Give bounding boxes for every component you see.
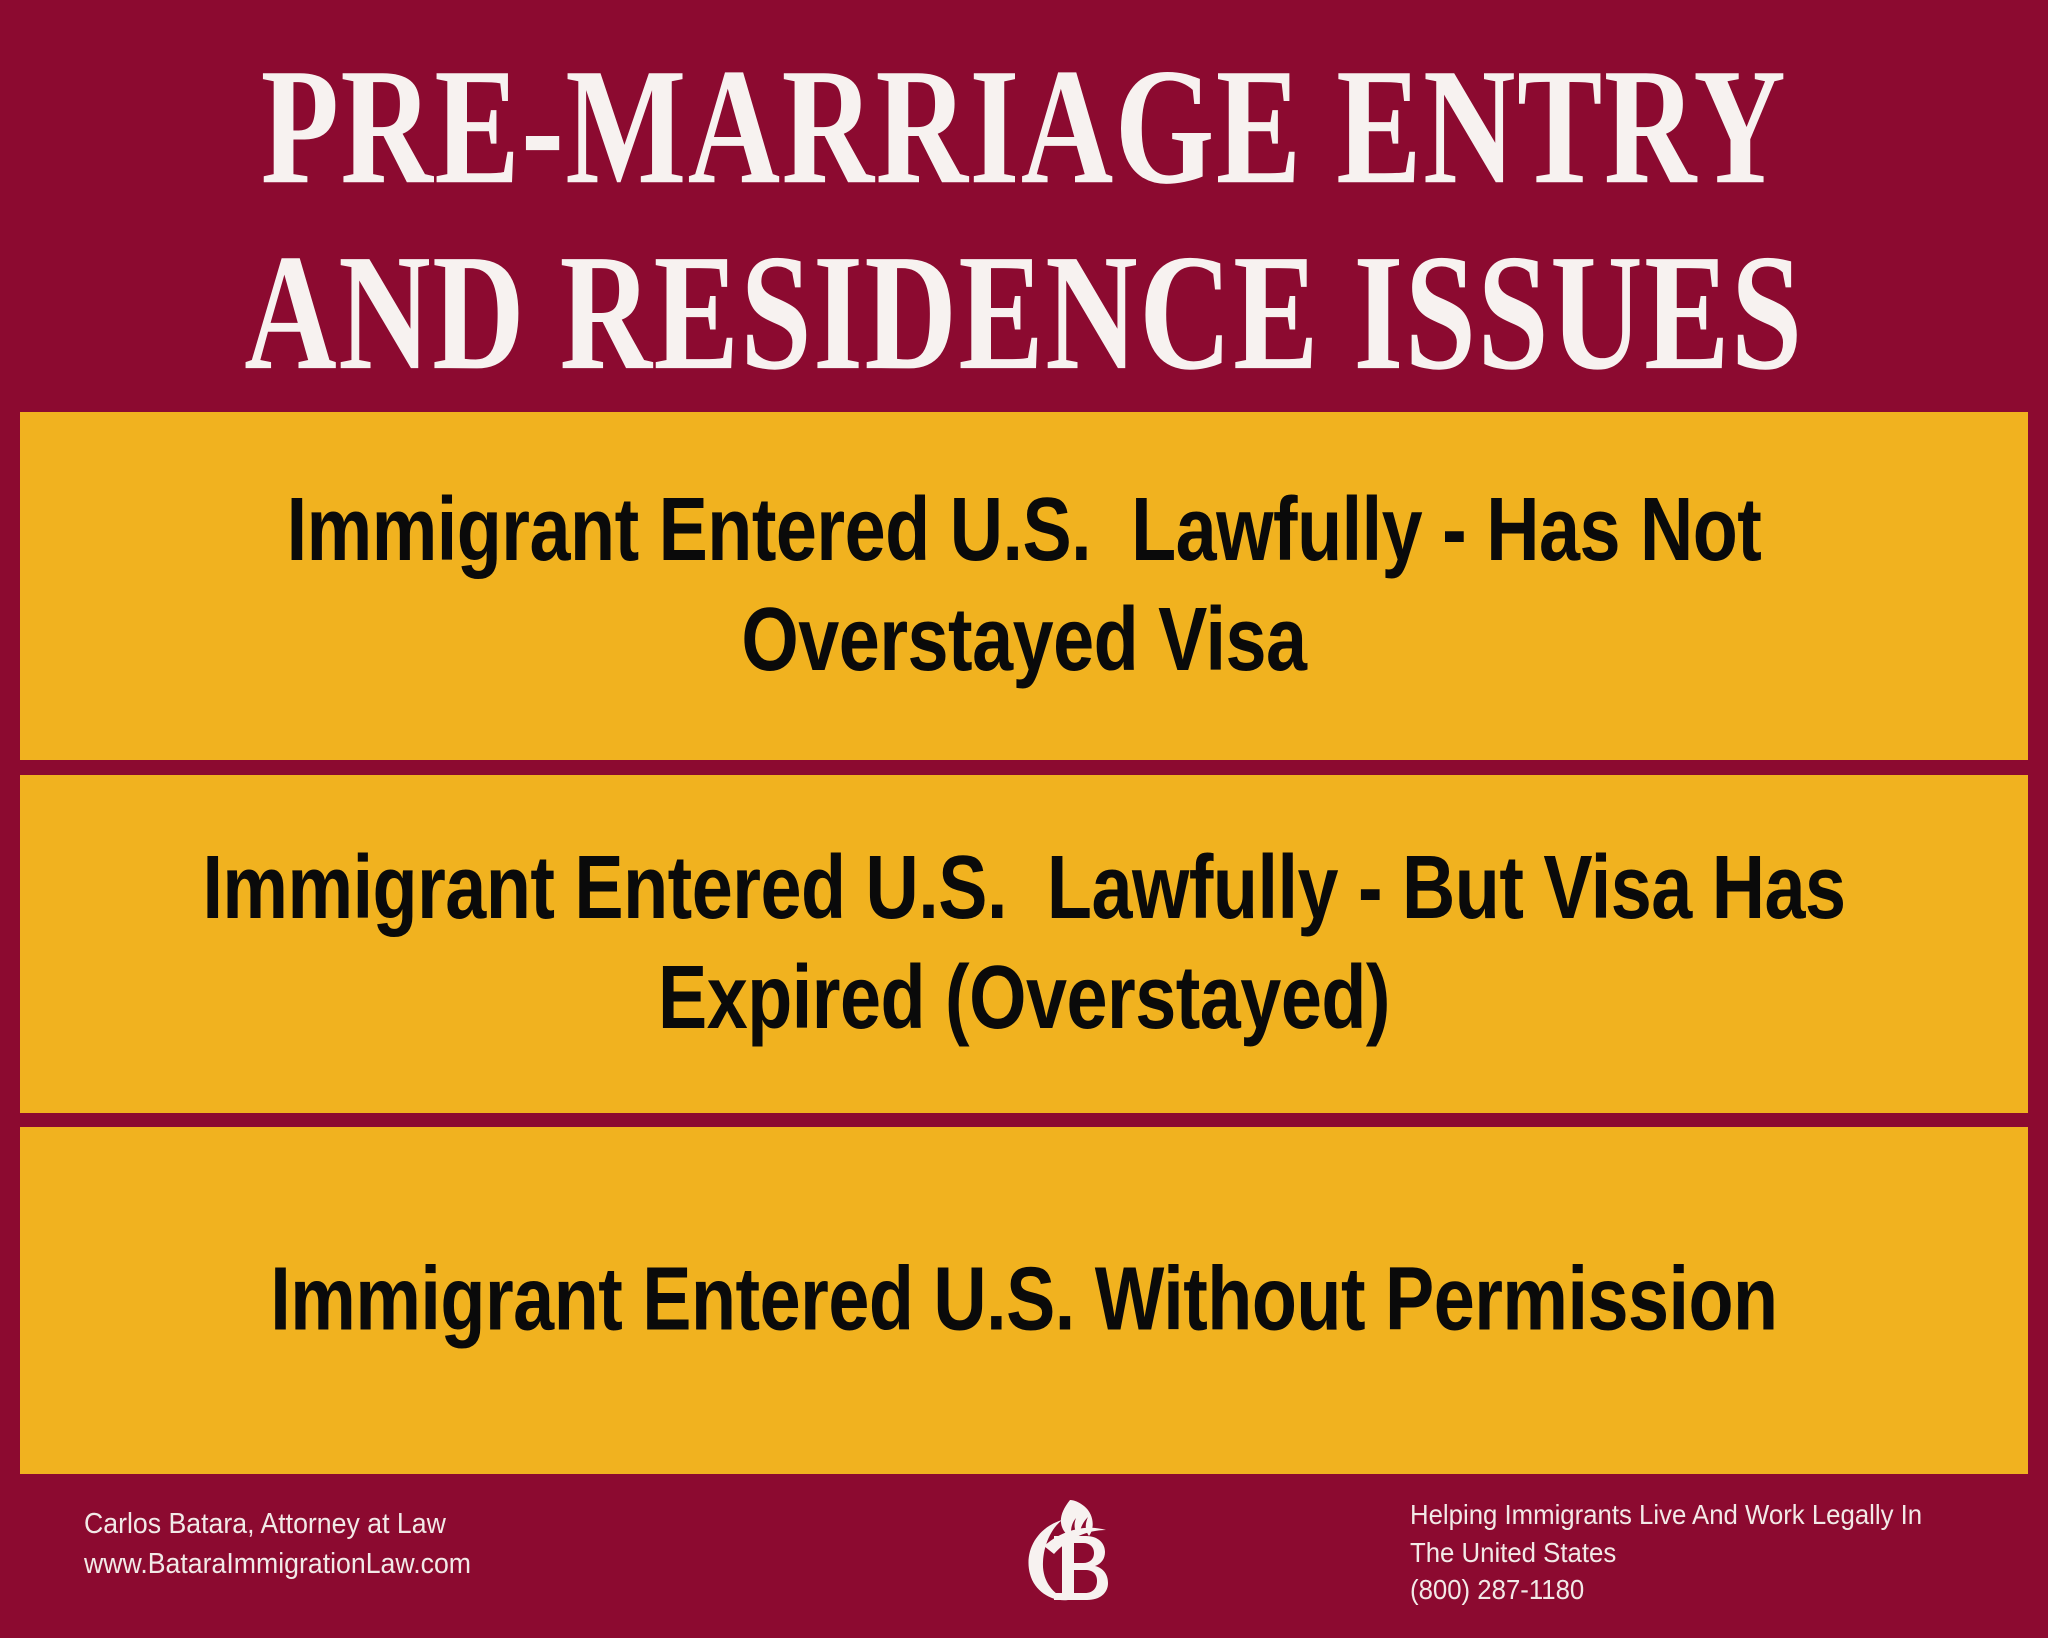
title-line-1: PRE-MARRIAGE ENTRY — [0, 34, 2048, 220]
website-url[interactable]: www.BataraImmigrationLaw.com — [84, 1544, 471, 1584]
panel-entered-without-permission: Immigrant Entered U.S. Without Permissio… — [20, 1127, 2028, 1474]
panel-entered-lawfully-visa-expired: Immigrant Entered U.S. Lawfully - But Vi… — [20, 775, 2028, 1113]
footer-tagline-contact: Helping Immigrants Live And Work Legally… — [1410, 1496, 1922, 1609]
panel-entered-lawfully-not-overstayed: Immigrant Entered U.S. Lawfully - Has No… — [20, 412, 2028, 760]
panel-text: Immigrant Entered U.S. Without Permissio… — [270, 1246, 1777, 1355]
panel-text: Immigrant Entered U.S. Lawfully - But Vi… — [118, 835, 1930, 1054]
tagline-line-1: Helping Immigrants Live And Work Legally… — [1410, 1496, 1922, 1534]
attorney-name: Carlos Batara, Attorney at Law — [84, 1504, 471, 1544]
footer: Carlos Batara, Attorney at Law www.Batar… — [0, 1474, 2048, 1638]
infographic-poster: PRE-MARRIAGE ENTRY AND RESIDENCE ISSUES … — [0, 0, 2048, 1638]
tagline-line-2: The United States — [1410, 1534, 1922, 1572]
footer-attorney-info: Carlos Batara, Attorney at Law www.Batar… — [84, 1504, 471, 1584]
panel-stack: Immigrant Entered U.S. Lawfully - Has No… — [20, 412, 2028, 1474]
batara-b-flame-logo — [1010, 1494, 1130, 1614]
title-line-2: AND RESIDENCE ISSUES — [0, 220, 2048, 406]
page-title: PRE-MARRIAGE ENTRY AND RESIDENCE ISSUES — [0, 34, 2048, 407]
phone-number[interactable]: (800) 287-1180 — [1410, 1571, 1922, 1609]
panel-text: Immigrant Entered U.S. Lawfully - Has No… — [118, 477, 1930, 696]
